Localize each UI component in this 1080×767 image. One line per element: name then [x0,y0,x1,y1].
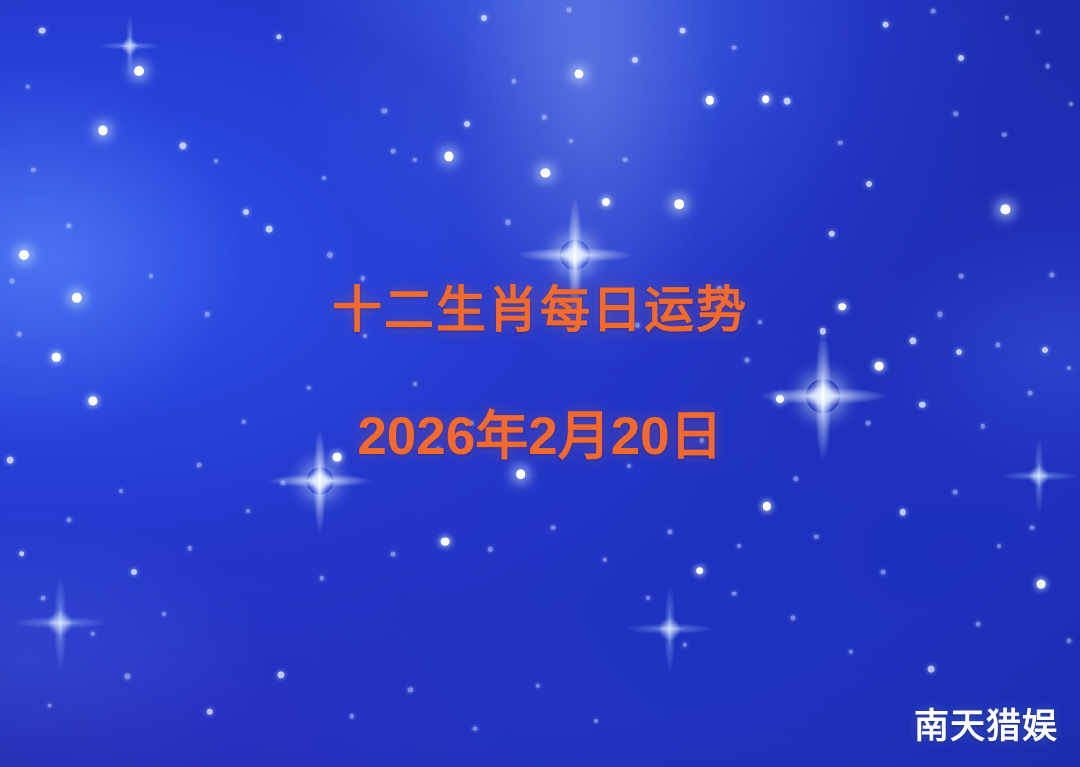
watermark-label: 南天猎娱 [914,698,1058,749]
page-title: 十二生肖每日运势 [0,282,1080,338]
headline-block: 十二生肖每日运势 [0,282,1080,338]
poster-canvas: 十二生肖每日运势 2026年2月20日 南天猎娱 [0,0,1080,767]
date-subtitle: 2026年2月20日 [0,407,1080,466]
background-nebula-glow [0,0,1080,767]
